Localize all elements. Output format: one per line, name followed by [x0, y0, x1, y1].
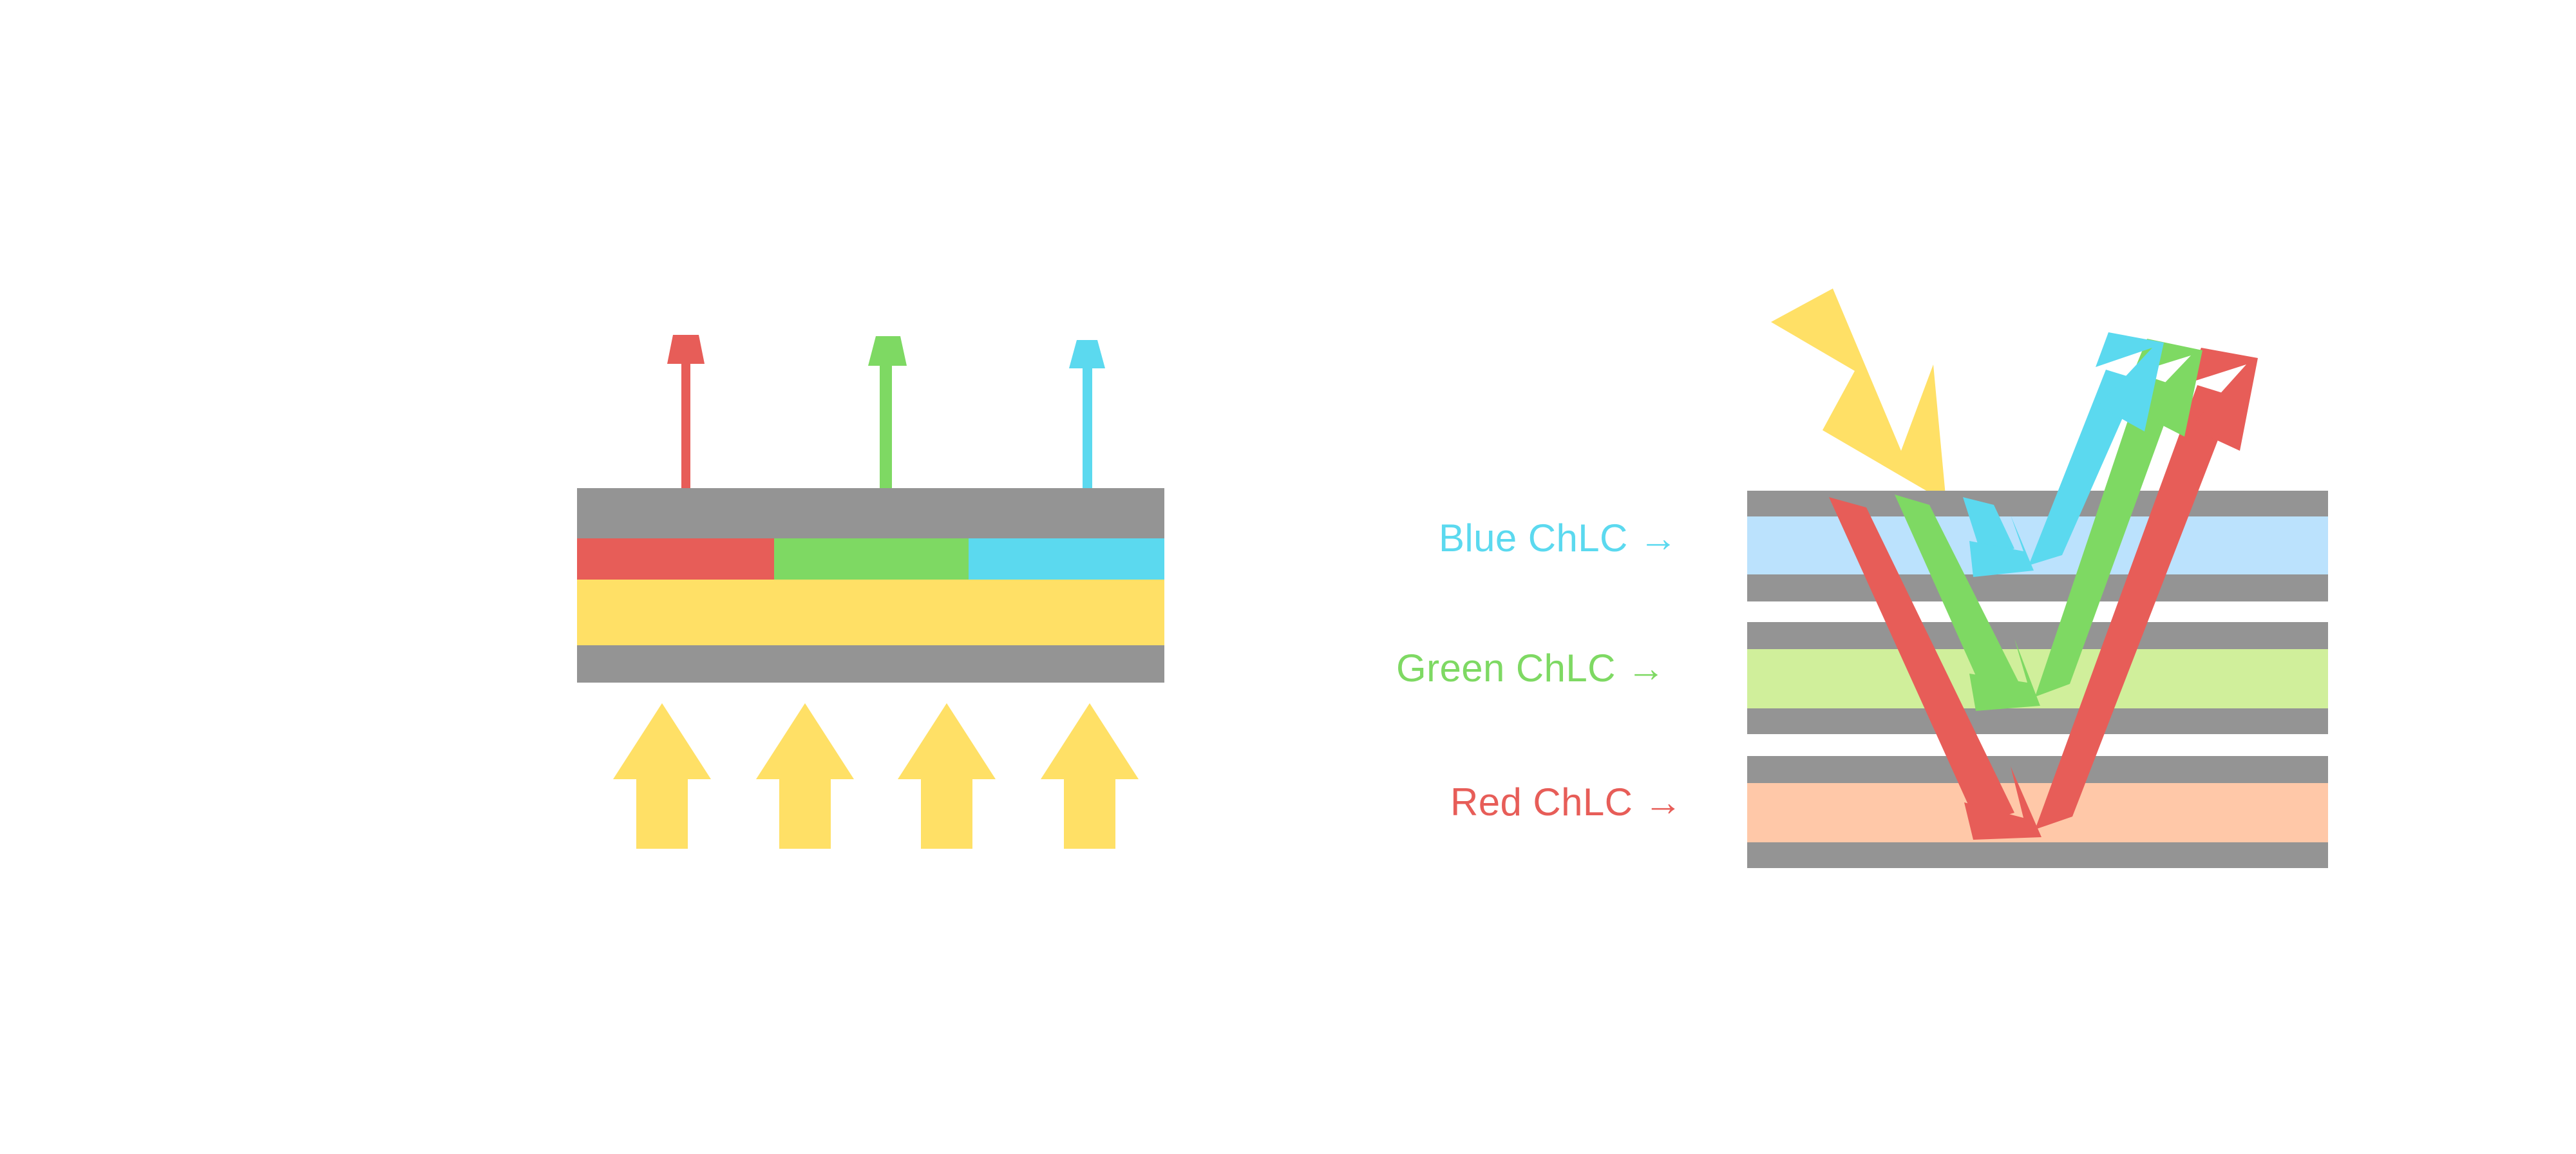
- red-chlc-label: Red ChLC →: [1450, 783, 1683, 822]
- blue-chlc-label-text: Blue ChLC: [1439, 516, 1628, 560]
- red-chlc-label-text: Red ChLC: [1450, 780, 1633, 824]
- green-cell-bottom-electrode: [1747, 708, 2328, 734]
- blue-chlc-label: Blue ChLC →: [1439, 519, 1678, 558]
- figure-canvas: Blue ChLC → Green ChLC → Red ChLC →: [0, 0, 2576, 1154]
- red-cell-bottom-electrode: [1747, 842, 2328, 868]
- green-chlc-label-text: Green ChLC: [1396, 647, 1616, 690]
- blue-cell-bottom-electrode: [1747, 574, 2328, 601]
- red-cell-top-electrode: [1747, 756, 2328, 783]
- green-cell-top-electrode: [1747, 622, 2328, 649]
- green-chlc-label-arrow-icon: →: [1627, 647, 1665, 690]
- red-chlc-label-arrow-icon: →: [1643, 780, 1682, 824]
- right-panel: [0, 0, 2576, 1154]
- green-chlc-label: Green ChLC →: [1396, 649, 1665, 688]
- blue-chlc-label-arrow-icon: →: [1639, 516, 1678, 560]
- incident-light-arrow: [1771, 288, 1946, 502]
